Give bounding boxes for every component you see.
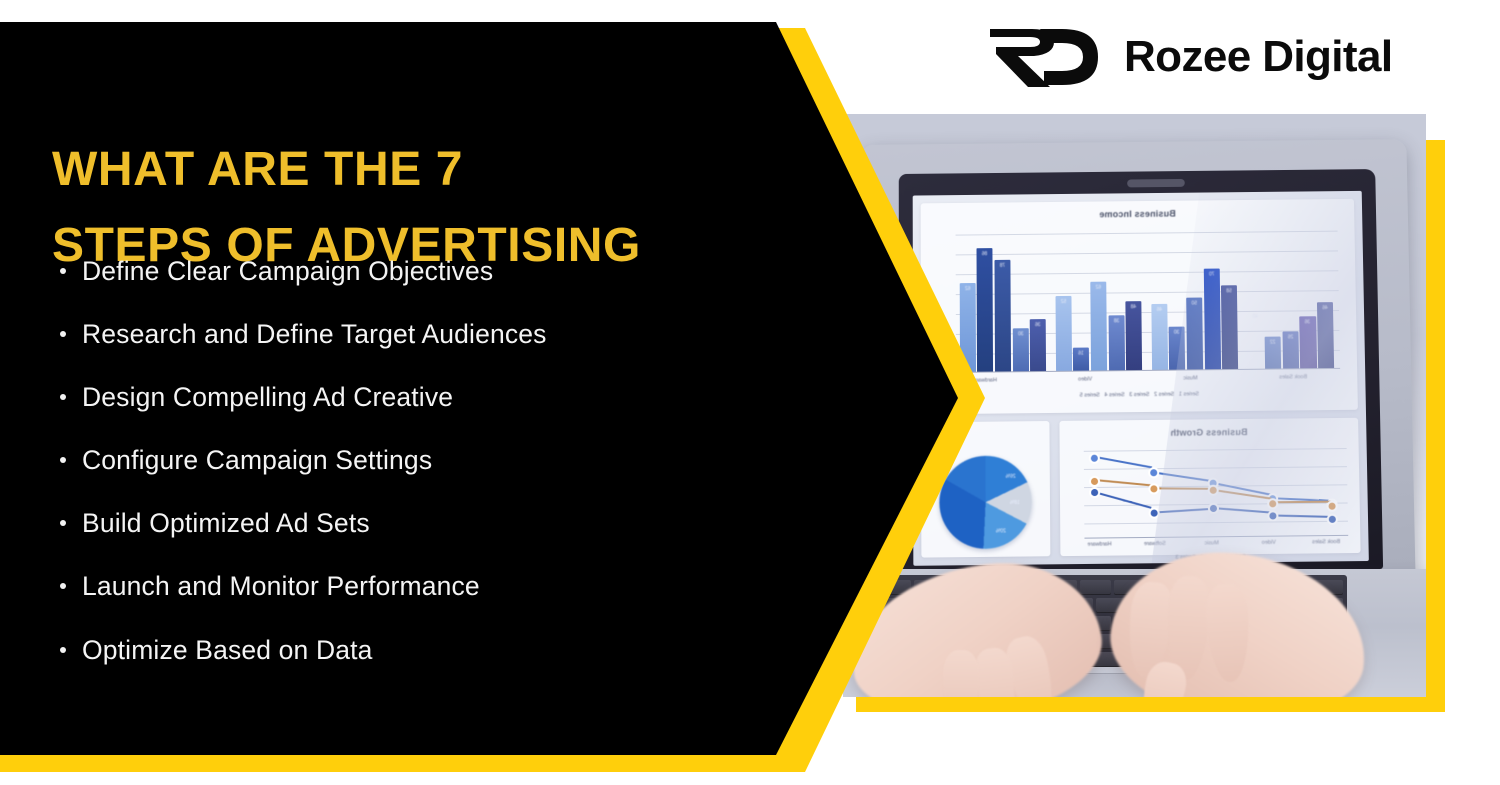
step-label: Build Optimized Ad Sets	[82, 508, 370, 538]
list-item: Research and Define Target Audiences	[82, 321, 802, 348]
line-xtick-2: Music	[1204, 540, 1219, 546]
list-item: Design Compelling Ad Creative	[82, 384, 802, 411]
bar-xtick-1: Video	[1078, 376, 1092, 382]
step-label: Research and Define Target Audiences	[82, 319, 547, 349]
bar-xtick-2: Music	[1183, 375, 1197, 381]
steps-list: Define Clear Campaign Objectives Researc…	[52, 258, 802, 700]
bar-xtick-3: Book Sales	[1279, 374, 1307, 380]
bar-plot-area: 62 86 78 30 36 52 16 62 38 48	[955, 225, 1339, 372]
step-label: Design Compelling Ad Creative	[82, 382, 453, 412]
line-xtick-0: Hardware	[1087, 541, 1111, 547]
dashboard-line-card: Business Growth	[1059, 418, 1360, 556]
webcam	[1127, 179, 1185, 187]
laptop-screen: Business Income 62	[913, 191, 1369, 566]
list-item: Configure Campaign Settings	[82, 447, 802, 474]
list-item: Optimize Based on Data	[82, 637, 802, 664]
step-label: Configure Campaign Settings	[82, 445, 432, 475]
step-label: Optimize Based on Data	[82, 635, 373, 665]
step-label: Define Clear Campaign Objectives	[82, 256, 493, 286]
photo-frame-right-bar	[1425, 140, 1445, 693]
poster-canvas: Business Income 62	[0, 0, 1500, 785]
line-xtick-3: Video	[1261, 540, 1275, 546]
list-item: Build Optimized Ad Sets	[82, 510, 802, 537]
content-area: WHAT ARE THE 7 STEPS OF ADVERTISING Defi…	[0, 0, 790, 785]
brand-logo: Rozee Digital	[988, 22, 1392, 92]
list-item: Define Clear Campaign Objectives	[82, 258, 802, 285]
line-chart-title: Business Growth	[1059, 426, 1358, 439]
line-plot-area	[1083, 440, 1348, 540]
step-label: Launch and Monitor Performance	[82, 571, 480, 601]
line-xtick-1: Software	[1144, 541, 1166, 547]
bar-chart-legend: Series 1 Series 2 Series 3 Series 4 Seri…	[921, 390, 1358, 401]
dashboard-bar-card: Business Income 62	[921, 199, 1358, 414]
list-item: Launch and Monitor Performance	[82, 573, 802, 600]
rd-monogram-icon	[988, 23, 1104, 91]
brand-name: Rozee Digital	[1124, 32, 1392, 82]
bar-chart-title: Business Income	[921, 207, 1355, 221]
line-xtick-4: Book Sales	[1312, 539, 1340, 545]
headline-line-1: WHAT ARE THE 7	[52, 143, 463, 196]
